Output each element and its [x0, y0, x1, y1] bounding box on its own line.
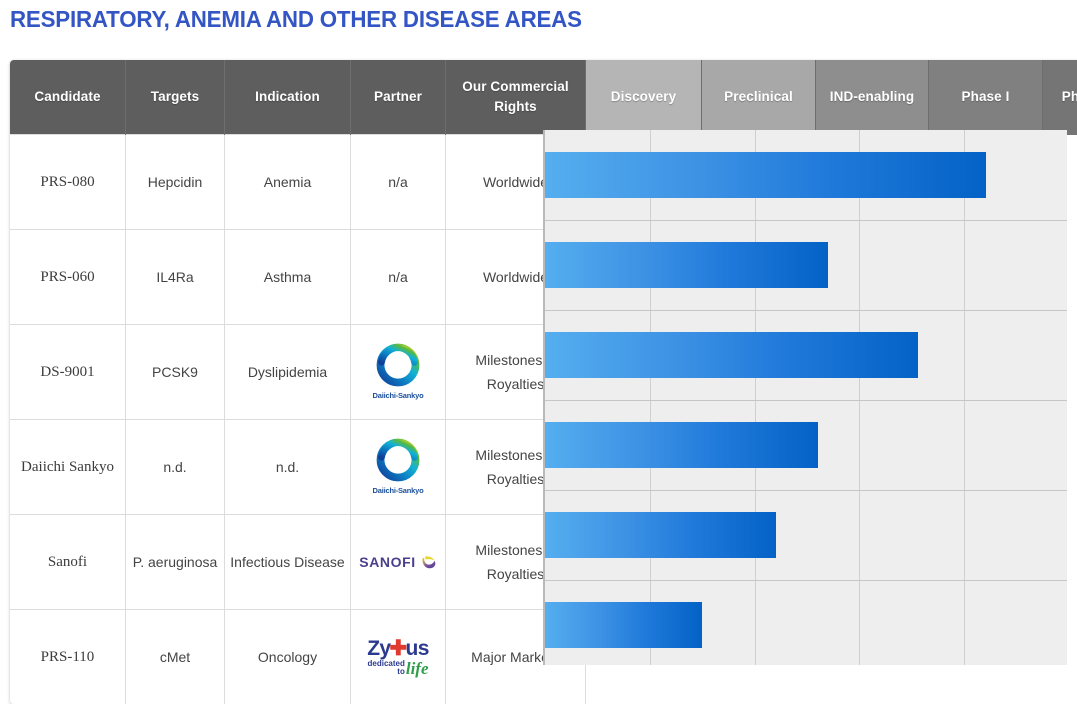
- column-header-partner: Partner: [351, 60, 446, 135]
- chart-bar-row: [545, 580, 1067, 665]
- progress-bar-prs-060: [545, 242, 828, 288]
- cell-partner: n/a: [351, 230, 446, 325]
- chart-bar-row: [545, 220, 1067, 310]
- page-title: RESPIRATORY, ANEMIA AND OTHER DISEASE AR…: [10, 6, 582, 33]
- daiichi-sankyo-wordmark: Daiichi-Sankyo: [373, 389, 424, 402]
- sanofi-bird-icon: [420, 554, 437, 571]
- cell-targets: PCSK9: [126, 325, 225, 420]
- cell-candidate: Daiichi Sankyo: [10, 420, 126, 515]
- daiichi-sankyo-ring-icon: [375, 342, 421, 388]
- column-header-candidate: Candidate: [10, 60, 126, 135]
- progress-bar-prs-110: [545, 602, 702, 648]
- cell-partner: SANOFI: [351, 515, 446, 610]
- cell-targets: Hepcidin: [126, 135, 225, 230]
- progress-bar-prs-080: [545, 152, 986, 198]
- column-header-preclinical: Preclinical: [702, 60, 816, 135]
- cell-candidate: PRS-110: [10, 610, 126, 704]
- zydus-word-part2: us: [406, 638, 429, 659]
- cell-indication: Anemia: [225, 135, 351, 230]
- cell-targets: n.d.: [126, 420, 225, 515]
- cell-partner: n/a: [351, 135, 446, 230]
- cell-candidate: PRS-080: [10, 135, 126, 230]
- progress-bar-sanofi: [545, 512, 776, 558]
- cell-candidate: PRS-060: [10, 230, 126, 325]
- daiichi-sankyo-logo: Daiichi-Sankyo: [351, 422, 445, 512]
- zydus-tagline-row: dedicated to life: [368, 660, 429, 677]
- cell-targets: IL4Ra: [126, 230, 225, 325]
- zydus-life-text: life: [406, 662, 429, 676]
- zydus-tagline-line2: to: [368, 668, 405, 676]
- sanofi-logo: SANOFI: [351, 517, 445, 607]
- column-header-targets: Targets: [126, 60, 225, 135]
- cell-indication: Oncology: [225, 610, 351, 704]
- table-header: Candidate Targets Indication Partner Our…: [10, 60, 1077, 135]
- column-header-phase-ib-iia: Phase Ib/IIa: [1043, 60, 1077, 135]
- sanofi-wordmark: SANOFI: [359, 550, 416, 575]
- column-header-phase-i: Phase I: [929, 60, 1043, 135]
- daiichi-sankyo-logo: Daiichi-Sankyo: [351, 327, 445, 417]
- daiichi-sankyo-wordmark: Daiichi-Sankyo: [373, 484, 424, 497]
- zydus-wordmark: Zy✚us: [367, 638, 429, 659]
- cell-candidate: DS-9001: [10, 325, 126, 420]
- cell-targets: cMet: [126, 610, 225, 704]
- column-header-discovery: Discovery: [586, 60, 702, 135]
- chart-bar-row: [545, 400, 1067, 490]
- cell-partner: Zy✚us dedicated to life: [351, 610, 446, 704]
- cell-partner: Daiichi-Sankyo: [351, 325, 446, 420]
- cell-indication: Asthma: [225, 230, 351, 325]
- zydus-word-part1: Zy: [367, 638, 390, 659]
- progress-bar-ds-9001: [545, 332, 918, 378]
- header-row: Candidate Targets Indication Partner Our…: [10, 60, 1077, 135]
- cell-indication: Dyslipidemia: [225, 325, 351, 420]
- cell-candidate: Sanofi: [10, 515, 126, 610]
- pipeline-progress-chart: [543, 130, 1067, 665]
- cell-partner: Daiichi-Sankyo: [351, 420, 446, 515]
- cell-indication: n.d.: [225, 420, 351, 515]
- cell-targets: P. aeruginosa: [126, 515, 225, 610]
- zydus-cross-icon: ✚: [390, 638, 407, 659]
- chart-bar-row: [545, 490, 1067, 580]
- chart-bar-row: [545, 130, 1067, 220]
- daiichi-sankyo-ring-icon: [375, 437, 421, 483]
- zydus-logo: Zy✚us dedicated to life: [351, 612, 445, 702]
- cell-indication: Infectious Disease: [225, 515, 351, 610]
- progress-bar-daiichi-sankyo: [545, 422, 818, 468]
- chart-bar-row: [545, 310, 1067, 400]
- column-header-ind-enabling: IND-enabling: [816, 60, 929, 135]
- column-header-commercial-rights: Our Commercial Rights: [446, 60, 586, 135]
- column-header-indication: Indication: [225, 60, 351, 135]
- sanofi-logo-row: SANOFI: [359, 550, 437, 575]
- zydus-dedicated-text: dedicated to: [368, 660, 405, 677]
